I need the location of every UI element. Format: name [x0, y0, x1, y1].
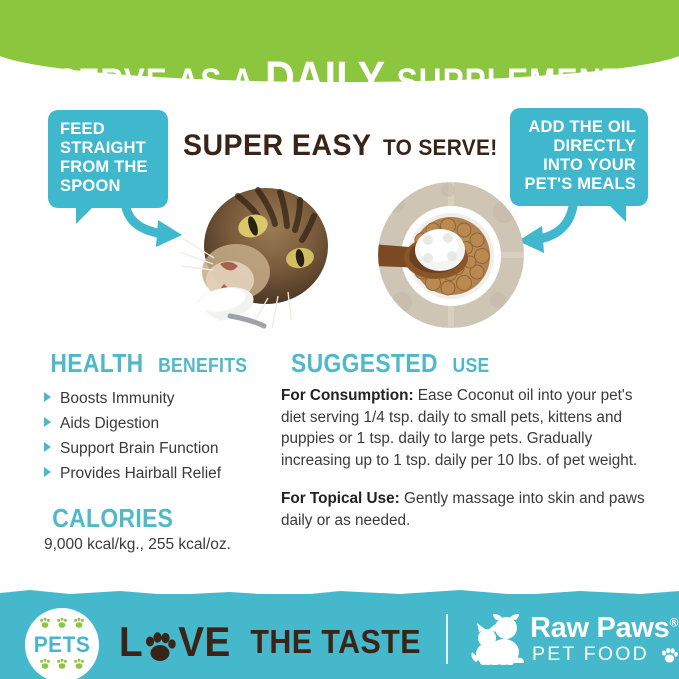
paw-print-icon	[39, 617, 85, 629]
benefit-label: Boosts Immunity	[60, 388, 175, 411]
top-banner-title: SERVE AS A DAILY SUPPLEMENT	[34, 52, 645, 104]
infographic-page: SERVE AS A DAILY SUPPLEMENT FEED STRAIGH…	[0, 0, 679, 679]
triangle-bullet-icon	[44, 392, 51, 402]
torn-edge-decoration	[0, 587, 679, 599]
triangle-bullet-icon	[44, 417, 51, 427]
topical-label: For Topical Use:	[281, 490, 400, 507]
list-item: Support Brain Function	[44, 438, 284, 461]
calories-heading: CALORIES	[44, 503, 182, 534]
consumption-label: For Consumption:	[281, 387, 414, 404]
love-letter-l: L	[119, 618, 143, 666]
header-text-after: SUPPLEMENT	[397, 62, 623, 101]
health-benefits-list: Boosts Immunity Aids Digestion Support B…	[44, 388, 284, 488]
paw-print-icon	[143, 629, 177, 663]
bubble-left-tail	[76, 206, 94, 224]
triangle-bullet-icon	[44, 467, 51, 477]
footer-divider	[446, 614, 448, 664]
pets-badge: PETS	[25, 608, 99, 679]
love-the-taste-tagline: L VE THE TASTE	[118, 616, 429, 668]
bottom-banner: PETS L	[0, 594, 679, 679]
suggested-heading-small: USE	[452, 355, 489, 378]
topical-paragraph: For Topical Use: Gently massage into ski…	[281, 488, 653, 531]
health-benefits-heading: HEALTHBENEFITS	[44, 348, 253, 379]
list-item: Provides Hairball Relief	[44, 463, 284, 486]
calories-heading-text: CALORIES	[52, 503, 173, 534]
brand-name-text: Raw Paws	[530, 612, 669, 644]
headline-big: SUPER EASY	[183, 129, 371, 163]
header-text-before: SERVE AS A	[56, 62, 254, 101]
headline-small: TO SERVE!	[383, 135, 497, 161]
list-item: Aids Digestion	[44, 413, 284, 436]
header-text-emphasis: DAILY	[265, 52, 385, 104]
pets-badge-label: PETS	[27, 632, 97, 658]
page-headline: SUPER EASYTO SERVE!	[0, 129, 679, 163]
dog-and-cat-silhouette-icon	[470, 614, 526, 666]
love-letters-ve: VE	[178, 618, 230, 666]
cat-licking-spoon-photo	[180, 180, 330, 330]
list-item: Boosts Immunity	[44, 388, 284, 411]
badge-paws-bottom	[25, 657, 99, 675]
suggested-use-heading: SUGGESTEDUSE	[281, 348, 492, 379]
benefit-label: Provides Hairball Relief	[60, 463, 221, 486]
love-rest-label: THE TASTE	[251, 623, 422, 661]
paw-print-icon	[661, 646, 678, 662]
bubble-right-tail	[608, 204, 626, 222]
benefit-label: Support Brain Function	[60, 438, 219, 461]
registered-mark: ®	[669, 615, 678, 629]
suggested-use-body: For Consumption: Ease Coconut oil into y…	[281, 385, 653, 547]
paw-print-icon	[39, 658, 85, 670]
kibble-bowl-with-coconut-oil-photo	[378, 182, 524, 328]
brand-name: Raw Paws®	[530, 612, 678, 645]
suggested-heading-big: SUGGESTED	[291, 348, 438, 379]
consumption-paragraph: For Consumption: Ease Coconut oil into y…	[281, 385, 653, 472]
raw-paws-logo: Raw Paws® PET FOOD	[470, 612, 670, 668]
health-heading-small: BENEFITS	[158, 355, 247, 378]
health-heading-big: HEALTH	[50, 348, 143, 379]
brand-sub-text: PET FOOD	[532, 643, 649, 665]
brand-tagline: PET FOOD	[532, 643, 678, 666]
calories-value: 9,000 kcal/kg., 255 kcal/oz.	[44, 536, 231, 554]
benefit-label: Aids Digestion	[60, 413, 159, 436]
triangle-bullet-icon	[44, 442, 51, 452]
